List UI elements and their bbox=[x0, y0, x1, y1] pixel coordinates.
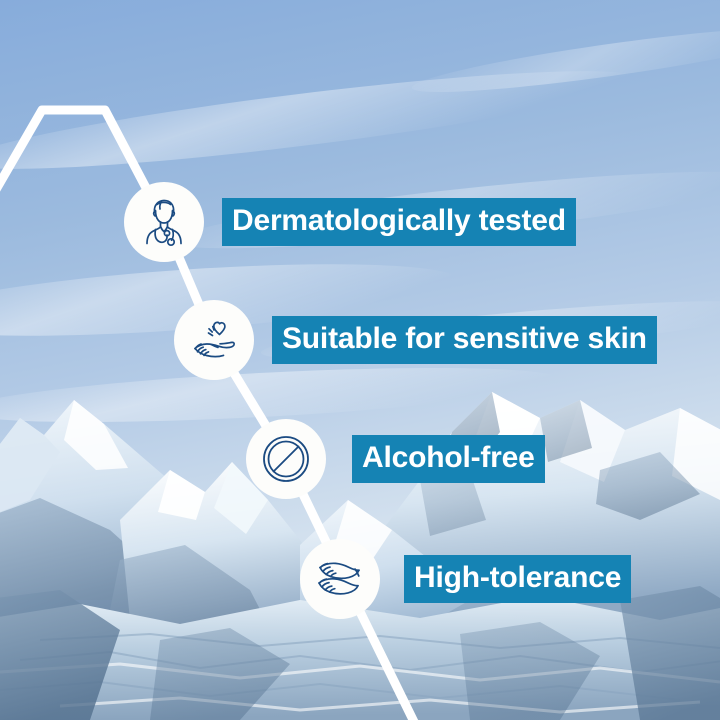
infographic-canvas: Dermatologically tested Sui bbox=[0, 0, 720, 720]
feature-item-alcohol-free[interactable]: Alcohol-free bbox=[246, 419, 545, 499]
feature-label-alcohol-free: Alcohol-free bbox=[352, 435, 545, 483]
feature-item-high-tolerance[interactable]: High-tolerance bbox=[300, 539, 631, 619]
two-hands-icon bbox=[300, 539, 380, 619]
feature-item-dermatologically-tested[interactable]: Dermatologically tested bbox=[124, 182, 576, 262]
feature-label-suitable-for-sensitive-skin: Suitable for sensitive skin bbox=[272, 316, 657, 364]
feature-label-high-tolerance: High-tolerance bbox=[404, 555, 631, 603]
hand-heart-icon bbox=[174, 300, 254, 380]
prohibition-circle-icon bbox=[246, 419, 326, 499]
feature-label-dermatologically-tested: Dermatologically tested bbox=[222, 198, 576, 246]
feature-item-suitable-for-sensitive-skin[interactable]: Suitable for sensitive skin bbox=[174, 300, 657, 380]
doctor-stethoscope-icon bbox=[124, 182, 204, 262]
